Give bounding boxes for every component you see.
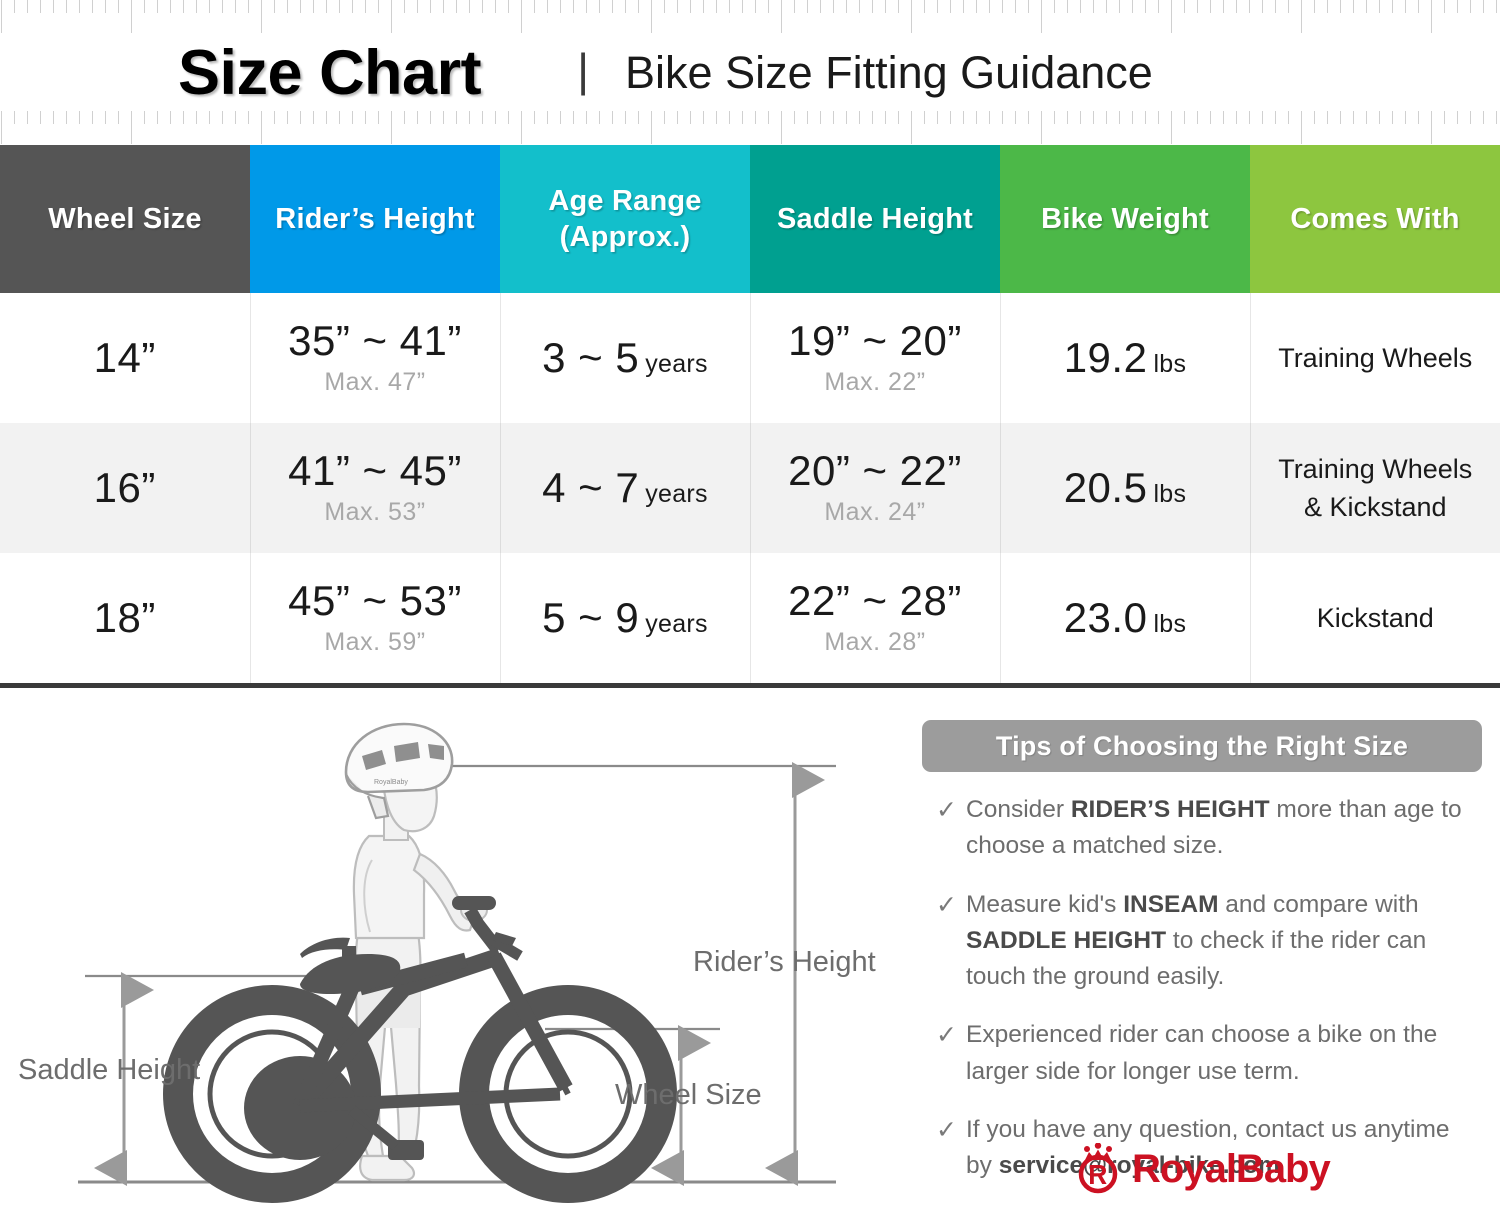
ruler-tick-minor <box>1405 0 1406 13</box>
comes-with-value: Training Wheels & Kickstand <box>1278 454 1472 522</box>
ruler-tick-minor <box>469 111 470 124</box>
page-subtitle: Bike Size Fitting Guidance <box>625 47 1153 99</box>
saddle-height-max: Max. 28” <box>751 628 1000 657</box>
ruler-tick-minor <box>1392 111 1393 124</box>
ruler-tick-minor <box>690 0 691 13</box>
ruler-tick-minor <box>560 0 561 13</box>
ruler-tick-minor <box>183 0 184 13</box>
ruler-tick-minor <box>976 0 977 13</box>
ruler-tick-minor <box>248 111 249 124</box>
ruler-tick-minor <box>1015 111 1016 124</box>
ruler-tick-minor <box>365 111 366 124</box>
ruler-tick-major <box>1 111 2 144</box>
ruler-decoration-top <box>0 0 1500 34</box>
ruler-tick-minor <box>950 0 951 13</box>
ruler-tick-minor <box>1327 0 1328 13</box>
ruler-tick-minor <box>1236 111 1237 124</box>
ruler-tick-minor <box>976 111 977 124</box>
ruler-tick-minor <box>885 111 886 124</box>
column-header-saddle-height: Saddle Height <box>750 145 1000 293</box>
ruler-tick-major <box>391 0 392 33</box>
ruler-tick-major <box>1301 0 1302 33</box>
cell-age-range: 4 ~ 7years <box>500 423 750 553</box>
ruler-tick-minor <box>1392 0 1393 13</box>
cell-wheel-size: 18” <box>0 553 250 683</box>
page-header: Size Chart | Bike Size Fitting Guidance <box>0 0 1500 145</box>
ruler-tick-minor <box>1496 111 1497 124</box>
ruler-tick-minor <box>222 111 223 124</box>
ruler-tick-minor <box>1184 0 1185 13</box>
ruler-tick-minor <box>729 111 730 124</box>
ruler-tick-minor <box>703 0 704 13</box>
cell-riders-height: 45” ~ 53” Max. 59” <box>250 553 500 683</box>
ruler-tick-minor <box>664 111 665 124</box>
ruler-tick-minor <box>1366 0 1367 13</box>
ruler-tick-minor <box>170 111 171 124</box>
ruler-tick-minor <box>443 111 444 124</box>
ruler-tick-minor <box>924 111 925 124</box>
ruler-tick-minor <box>547 0 548 13</box>
ruler-tick-minor <box>287 0 288 13</box>
ruler-tick-minor <box>937 111 938 124</box>
bike-weight-value: 20.5 <box>1064 464 1148 511</box>
ruler-tick-minor <box>1067 0 1068 13</box>
comes-with-value: Training Wheels <box>1278 343 1472 373</box>
label-saddle-height: Saddle Height <box>18 1054 200 1086</box>
ruler-tick-minor <box>105 111 106 124</box>
ruler-tick-minor <box>1340 111 1341 124</box>
ruler-tick-major <box>1431 111 1432 144</box>
ruler-tick-minor <box>1015 0 1016 13</box>
check-icon: ✓ <box>922 1017 966 1054</box>
ruler-tick-minor <box>170 0 171 13</box>
riders-height-value: 35” ~ 41” <box>288 317 462 364</box>
table-body: 14” 35” ~ 41” Max. 47” 3 ~ 5years 19” ~ … <box>0 293 1500 683</box>
ruler-tick-minor <box>859 111 860 124</box>
ruler-tick-minor <box>963 111 964 124</box>
ruler-tick-minor <box>1288 111 1289 124</box>
ruler-tick-minor <box>326 111 327 124</box>
cell-wheel-size: 14” <box>0 293 250 423</box>
ruler-tick-minor <box>118 0 119 13</box>
ruler-tick-major <box>131 111 132 144</box>
column-header-riders-height: Rider’s Height <box>250 145 500 293</box>
ruler-tick-minor <box>807 111 808 124</box>
ruler-tick-minor <box>586 111 587 124</box>
ruler-tick-minor <box>859 0 860 13</box>
ruler-tick-minor <box>222 0 223 13</box>
ruler-tick-major <box>1431 0 1432 33</box>
tip-text: Measure kid's INSEAM and compare with SA… <box>966 887 1482 996</box>
ruler-tick-major <box>1041 0 1042 33</box>
saddle-height-value: 19” ~ 20” <box>788 317 962 364</box>
column-header-bike-weight: Bike Weight <box>1000 145 1250 293</box>
column-header-label: Wheel Size <box>48 203 202 235</box>
ruler-tick-minor <box>625 111 626 124</box>
ruler-tick-minor <box>157 0 158 13</box>
cell-age-range: 3 ~ 5years <box>500 293 750 423</box>
ruler-tick-minor <box>209 111 210 124</box>
ruler-tick-major <box>131 0 132 33</box>
ruler-tick-minor <box>755 111 756 124</box>
ruler-tick-minor <box>846 0 847 13</box>
ruler-tick-minor <box>196 111 197 124</box>
ruler-tick-minor <box>1210 111 1211 124</box>
ruler-tick-minor <box>872 0 873 13</box>
ruler-tick-minor <box>40 111 41 124</box>
ruler-tick-minor <box>937 0 938 13</box>
table-header-row: Wheel Size Rider’s Height Age Range (App… <box>0 145 1500 293</box>
ruler-tick-minor <box>1275 111 1276 124</box>
ruler-tick-minor <box>1379 0 1380 13</box>
ruler-tick-minor <box>235 111 236 124</box>
ruler-tick-minor <box>495 111 496 124</box>
cell-bike-weight: 19.2lbs <box>1000 293 1250 423</box>
ruler-tick-minor <box>1496 0 1497 13</box>
page-title: Size Chart <box>178 37 481 109</box>
ruler-tick-minor <box>1028 111 1029 124</box>
ruler-tick-minor <box>40 0 41 13</box>
bike-weight-value: 23.0 <box>1064 594 1148 641</box>
ruler-tick-minor <box>807 0 808 13</box>
bike-weight-unit: lbs <box>1153 610 1186 638</box>
ruler-tick-major <box>1 0 2 33</box>
ruler-tick-minor <box>1080 111 1081 124</box>
ruler-tick-minor <box>274 0 275 13</box>
cell-age-range: 5 ~ 9years <box>500 553 750 683</box>
ruler-tick-minor <box>898 111 899 124</box>
column-header-label: Bike Weight <box>1041 203 1209 235</box>
ruler-tick-minor <box>1249 111 1250 124</box>
ruler-tick-minor <box>989 111 990 124</box>
riders-height-max: Max. 47” <box>251 368 500 397</box>
tips-heading-label: Tips of Choosing the Right Size <box>996 731 1408 762</box>
ruler-tick-minor <box>443 0 444 13</box>
ruler-tick-minor <box>92 0 93 13</box>
ruler-tick-minor <box>53 111 54 124</box>
ruler-tick-minor <box>339 0 340 13</box>
brand-logo-text: RoyalBaby <box>1132 1149 1330 1189</box>
ruler-tick-minor <box>1353 111 1354 124</box>
ruler-tick-minor <box>326 0 327 13</box>
ruler-tick-minor <box>1028 0 1029 13</box>
ruler-tick-minor <box>1418 111 1419 124</box>
ruler-tick-minor <box>456 111 457 124</box>
ruler-tick-minor <box>313 111 314 124</box>
check-icon: ✓ <box>922 792 966 829</box>
saddle-height-max: Max. 22” <box>751 368 1000 397</box>
ruler-tick-minor <box>963 0 964 13</box>
age-range-value: 3 ~ 5 <box>542 334 639 381</box>
tip-text-emphasis: RIDER’S HEIGHT <box>1071 796 1270 823</box>
ruler-tick-minor <box>14 111 15 124</box>
ruler-tick-minor <box>924 0 925 13</box>
ruler-tick-minor <box>794 111 795 124</box>
ruler-tick-minor <box>430 0 431 13</box>
ruler-tick-minor <box>144 0 145 13</box>
ruler-tick-minor <box>1158 0 1159 13</box>
ruler-tick-minor <box>599 111 600 124</box>
ruler-tick-minor <box>573 0 574 13</box>
ruler-tick-minor <box>833 0 834 13</box>
ruler-tick-minor <box>1262 111 1263 124</box>
ruler-tick-minor <box>677 0 678 13</box>
ruler-tick-minor <box>14 0 15 13</box>
ruler-tick-minor <box>287 111 288 124</box>
ruler-tick-major <box>521 0 522 33</box>
ruler-tick-minor <box>1002 111 1003 124</box>
ruler-tick-minor <box>1197 111 1198 124</box>
tip-text-pre: Consider <box>966 796 1071 823</box>
cell-riders-height: 35” ~ 41” Max. 47” <box>250 293 500 423</box>
ruler-tick-minor <box>820 0 821 13</box>
ruler-tick-minor <box>1262 0 1263 13</box>
cell-comes-with: Kickstand <box>1250 553 1500 683</box>
ruler-tick-major <box>1301 111 1302 144</box>
ruler-tick-minor <box>1340 0 1341 13</box>
table-row: 16” 41” ~ 45” Max. 53” 4 ~ 7years 20” ~ … <box>0 423 1500 553</box>
cell-saddle-height: 20” ~ 22” Max. 24” <box>750 423 1000 553</box>
ruler-tick-minor <box>768 0 769 13</box>
illustration-svg: RoyalBaby <box>0 688 900 1211</box>
ruler-tick-minor <box>612 0 613 13</box>
ruler-tick-minor <box>1197 0 1198 13</box>
royalbaby-crown-r-icon <box>1072 1143 1124 1195</box>
age-range-unit: years <box>645 610 708 638</box>
ruler-tick-minor <box>768 111 769 124</box>
ruler-tick-minor <box>235 0 236 13</box>
ruler-tick-minor <box>1314 0 1315 13</box>
ruler-tick-minor <box>1223 0 1224 13</box>
ruler-tick-minor <box>846 111 847 124</box>
ruler-tick-minor <box>716 111 717 124</box>
ruler-tick-minor <box>625 0 626 13</box>
age-range-value: 5 ~ 9 <box>542 594 639 641</box>
cell-bike-weight: 23.0lbs <box>1000 553 1250 683</box>
ruler-tick-minor <box>79 111 80 124</box>
bike-weight-unit: lbs <box>1153 480 1186 508</box>
ruler-tick-minor <box>547 111 548 124</box>
ruler-tick-minor <box>729 0 730 13</box>
ruler-tick-minor <box>209 0 210 13</box>
ruler-tick-minor <box>1405 111 1406 124</box>
saddle-height-value: 20” ~ 22” <box>788 447 962 494</box>
ruler-tick-minor <box>612 111 613 124</box>
label-riders-height: Rider’s Height <box>693 946 876 978</box>
ruler-tick-minor <box>638 0 639 13</box>
ruler-tick-major <box>781 0 782 33</box>
cell-bike-weight: 20.5lbs <box>1000 423 1250 553</box>
title-separator: | <box>577 47 589 93</box>
ruler-tick-minor <box>599 0 600 13</box>
ruler-tick-major <box>1171 0 1172 33</box>
ruler-tick-minor <box>534 111 535 124</box>
ruler-tick-minor <box>1223 111 1224 124</box>
ruler-tick-minor <box>1080 0 1081 13</box>
list-item: ✓ Experienced rider can choose a bike on… <box>922 1017 1482 1090</box>
ruler-tick-minor <box>898 0 899 13</box>
ruler-tick-minor <box>1457 111 1458 124</box>
cell-saddle-height: 19” ~ 20” Max. 22” <box>750 293 1000 423</box>
check-icon: ✓ <box>922 887 966 924</box>
comes-with-value: Kickstand <box>1317 603 1434 633</box>
ruler-tick-minor <box>755 0 756 13</box>
ruler-tick-minor <box>1418 0 1419 13</box>
column-header-label: Age Range <box>548 185 701 217</box>
column-header-sublabel: (Approx.) <box>500 219 750 255</box>
ruler-tick-minor <box>404 0 405 13</box>
ruler-tick-minor <box>1327 111 1328 124</box>
ruler-tick-minor <box>248 0 249 13</box>
ruler-tick-minor <box>1314 111 1315 124</box>
ruler-tick-minor <box>664 0 665 13</box>
ruler-tick-minor <box>118 111 119 124</box>
ruler-tick-minor <box>742 111 743 124</box>
brand-logo: RoyalBaby <box>1072 1143 1330 1195</box>
ruler-tick-minor <box>1210 0 1211 13</box>
label-wheel-size: Wheel Size <box>615 1079 762 1111</box>
ruler-tick-minor <box>66 0 67 13</box>
ruler-tick-major <box>521 111 522 144</box>
ruler-tick-minor <box>560 111 561 124</box>
cell-comes-with: Training Wheels & Kickstand <box>1250 423 1500 553</box>
ruler-tick-minor <box>1275 0 1276 13</box>
ruler-tick-minor <box>482 111 483 124</box>
ruler-tick-minor <box>300 111 301 124</box>
ruler-tick-minor <box>365 0 366 13</box>
ruler-tick-major <box>391 111 392 144</box>
ruler-tick-minor <box>534 0 535 13</box>
age-range-value: 4 ~ 7 <box>542 464 639 511</box>
bike-weight-unit: lbs <box>1153 350 1186 378</box>
ruler-tick-minor <box>1145 111 1146 124</box>
bike-measurement-illustration: RoyalBaby <box>0 688 900 1211</box>
ruler-tick-minor <box>716 0 717 13</box>
ruler-tick-major <box>1041 111 1042 144</box>
ruler-tick-minor <box>1366 111 1367 124</box>
ruler-tick-minor <box>482 0 483 13</box>
cell-riders-height: 41” ~ 45” Max. 53” <box>250 423 500 553</box>
ruler-tick-minor <box>378 0 379 13</box>
ruler-tick-minor <box>417 111 418 124</box>
ruler-tick-minor <box>495 0 496 13</box>
ruler-tick-minor <box>53 0 54 13</box>
ruler-tick-minor <box>196 0 197 13</box>
ruler-tick-minor <box>690 111 691 124</box>
ruler-decoration-bottom <box>0 111 1500 145</box>
ruler-tick-minor <box>1470 0 1471 13</box>
ruler-tick-major <box>261 111 262 144</box>
table-row: 18” 45” ~ 53” Max. 59” 5 ~ 9years 22” ~ … <box>0 553 1500 683</box>
ruler-tick-minor <box>79 0 80 13</box>
ruler-tick-minor <box>1158 111 1159 124</box>
saddle-height-max: Max. 24” <box>751 498 1000 527</box>
ruler-tick-minor <box>1093 111 1094 124</box>
ruler-tick-minor <box>183 111 184 124</box>
ruler-tick-minor <box>885 0 886 13</box>
ruler-tick-minor <box>1379 111 1380 124</box>
wheel-size-value: 16” <box>94 464 156 511</box>
ruler-tick-minor <box>313 0 314 13</box>
tip-text-pre: Measure kid's <box>966 891 1123 918</box>
wheel-size-value: 14” <box>94 334 156 381</box>
ruler-tick-minor <box>469 0 470 13</box>
ruler-tick-minor <box>1457 0 1458 13</box>
ruler-tick-minor <box>430 111 431 124</box>
tip-text: Consider RIDER’S HEIGHT more than age to… <box>966 792 1482 865</box>
list-item: ✓ Consider RIDER’S HEIGHT more than age … <box>922 792 1482 865</box>
ruler-tick-minor <box>27 111 28 124</box>
ruler-tick-minor <box>872 111 873 124</box>
svg-text:RoyalBaby: RoyalBaby <box>374 779 408 786</box>
ruler-tick-minor <box>638 111 639 124</box>
ruler-tick-minor <box>1483 0 1484 13</box>
ruler-tick-minor <box>1483 111 1484 124</box>
ruler-tick-major <box>651 111 652 144</box>
ruler-tick-minor <box>456 0 457 13</box>
ruler-tick-minor <box>1132 111 1133 124</box>
column-header-wheel-size: Wheel Size <box>0 145 250 293</box>
ruler-tick-major <box>261 0 262 33</box>
ruler-tick-minor <box>66 111 67 124</box>
ruler-tick-minor <box>378 111 379 124</box>
ruler-tick-minor <box>1145 0 1146 13</box>
ruler-tick-minor <box>1002 0 1003 13</box>
cell-comes-with: Training Wheels <box>1250 293 1500 423</box>
column-header-label: Rider’s Height <box>275 203 474 235</box>
riders-height-max: Max. 59” <box>251 628 500 657</box>
ruler-tick-minor <box>274 111 275 124</box>
ruler-tick-minor <box>703 111 704 124</box>
table-row: 14” 35” ~ 41” Max. 47” 3 ~ 5years 19” ~ … <box>0 293 1500 423</box>
ruler-tick-minor <box>144 111 145 124</box>
lower-section: RoyalBaby <box>0 688 1500 1211</box>
ruler-tick-minor <box>1106 0 1107 13</box>
ruler-tick-minor <box>586 0 587 13</box>
tip-text-emphasis: INSEAM <box>1123 891 1218 918</box>
column-header-age-range: Age Range (Approx.) <box>500 145 750 293</box>
ruler-tick-minor <box>300 0 301 13</box>
riders-height-value: 41” ~ 45” <box>288 447 462 494</box>
ruler-tick-minor <box>1132 0 1133 13</box>
ruler-tick-minor <box>1054 0 1055 13</box>
ruler-tick-minor <box>1470 111 1471 124</box>
ruler-tick-major <box>781 111 782 144</box>
age-range-unit: years <box>645 350 708 378</box>
age-range-unit: years <box>645 480 708 508</box>
ruler-tick-minor <box>794 0 795 13</box>
ruler-tick-minor <box>1249 0 1250 13</box>
tips-panel: Tips of Choosing the Right Size ✓ Consid… <box>922 720 1482 1206</box>
column-header-comes-with: Comes With <box>1250 145 1500 293</box>
ruler-tick-minor <box>833 111 834 124</box>
ruler-tick-minor <box>1184 111 1185 124</box>
size-chart-table: Wheel Size Rider’s Height Age Range (App… <box>0 145 1500 683</box>
ruler-tick-minor <box>1444 111 1445 124</box>
ruler-tick-minor <box>404 111 405 124</box>
tips-panel-header: Tips of Choosing the Right Size <box>922 720 1482 772</box>
ruler-tick-minor <box>573 111 574 124</box>
tip-text-mid: and compare with <box>1218 891 1418 918</box>
ruler-tick-major <box>911 111 912 144</box>
ruler-tick-minor <box>742 0 743 13</box>
ruler-tick-minor <box>950 111 951 124</box>
bike-weight-value: 19.2 <box>1064 334 1148 381</box>
ruler-tick-minor <box>27 0 28 13</box>
ruler-tick-minor <box>1288 0 1289 13</box>
ruler-tick-minor <box>92 111 93 124</box>
column-header-label: Comes With <box>1290 203 1459 235</box>
